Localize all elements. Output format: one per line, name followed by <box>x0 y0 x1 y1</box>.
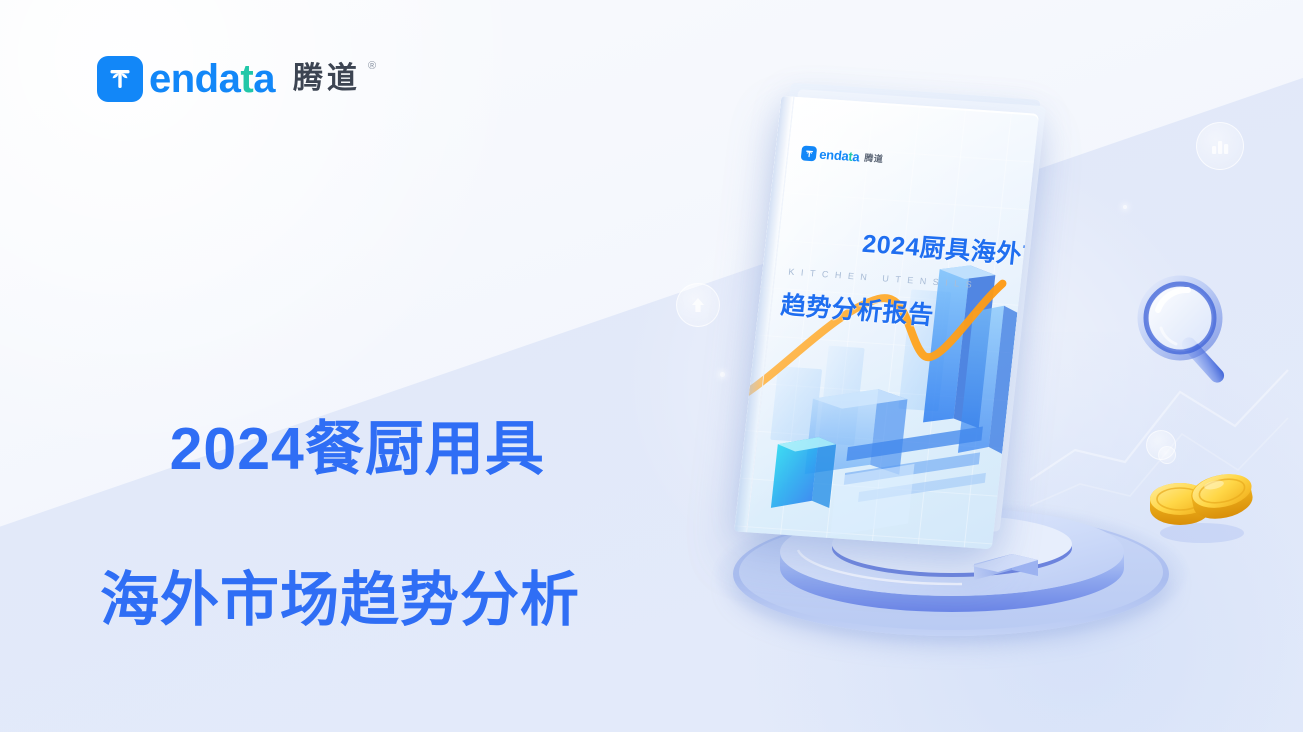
book-title-line-2: 趋势分析报告 <box>779 290 1002 339</box>
book-tendata-wordmark: endata <box>819 148 860 164</box>
book-title: 2024厨具海外市场 趋势分析报告 <box>772 189 1013 406</box>
book-tendata-t-leaf-logo-icon <box>801 145 818 161</box>
gold-coins-icon <box>1140 455 1260 545</box>
page-title-line-2: 海外市场趋势分析 <box>100 563 580 639</box>
registered-trademark-symbol: ® <box>368 60 376 72</box>
page-title: 2024餐厨用具 海外市场趋势分析 <box>100 337 580 732</box>
banner-canvas: endata 腾道 ® 2024餐厨用具 海外市场趋势分析 <box>0 0 1303 732</box>
book-tendata-chinese-name: 腾道 <box>864 151 884 165</box>
book-cover: endata 腾道 2024厨具海外市场 趋势分析报告 KITCHEN UTEN… <box>734 96 1039 549</box>
page-title-line-1: 2024餐厨用具 <box>170 416 545 482</box>
tendata-chinese-name: 腾道 <box>293 64 361 94</box>
magnifier-icon <box>1130 270 1260 400</box>
tendata-wordmark: endata <box>149 59 275 99</box>
tendata-t-leaf-logo-icon <box>97 56 143 102</box>
hero-illustration: endata 腾道 2024厨具海外市场 趋势分析报告 KITCHEN UTEN… <box>640 80 1280 660</box>
report-book: endata 腾道 2024厨具海外市场 趋势分析报告 KITCHEN UTEN… <box>735 96 1049 542</box>
tendata-logo[interactable]: endata 腾道 ® <box>97 56 376 102</box>
